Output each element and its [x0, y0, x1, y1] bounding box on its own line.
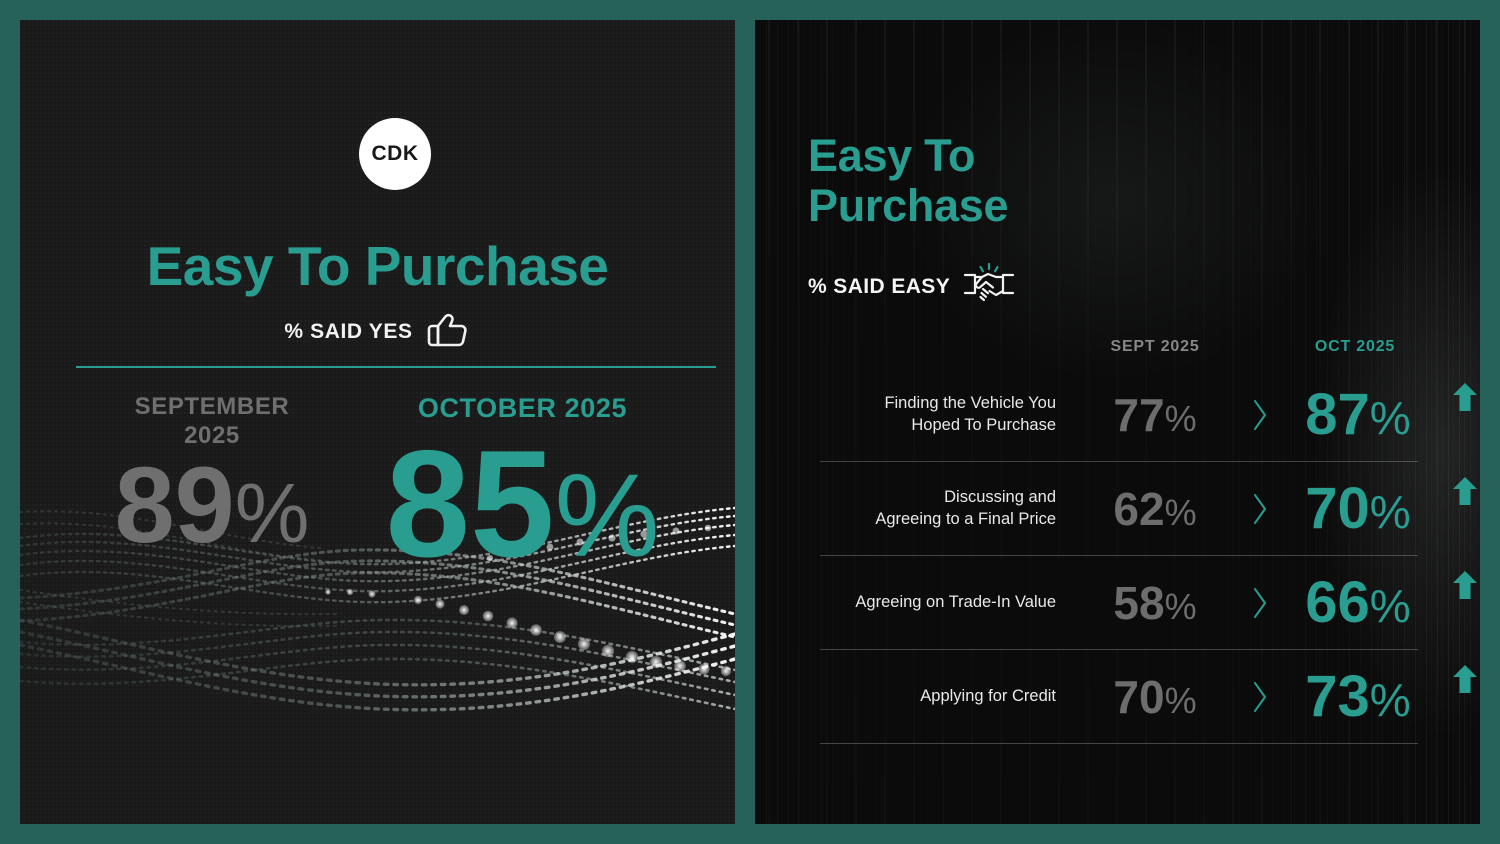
thumbs-up-icon — [425, 308, 471, 356]
row-previous-number: 58 — [1113, 577, 1164, 629]
right-title-line2: Purchase — [808, 180, 1008, 231]
row-current-percent-sign: % — [1370, 486, 1411, 538]
row-label-line2: Hoped To Purchase — [911, 416, 1056, 434]
row-current-percent-sign: % — [1370, 392, 1411, 444]
left-previous-percent-sign: % — [235, 466, 310, 560]
cdk-logo: CDK — [359, 118, 431, 190]
right-panel: CDK Easy To Purchase % SAID EASY — [755, 20, 1480, 824]
left-subtitle: % SAID YES — [20, 308, 735, 356]
row-label: Discussing and Agreeing to a Final Price — [820, 487, 1056, 531]
table-row: Agreeing on Trade-In Value 58% 66% — [820, 556, 1418, 650]
row-current-value: 70% — [1270, 480, 1446, 538]
row-label-line1: Agreeing on Trade-In Value — [855, 593, 1056, 611]
row-current-percent-sign: % — [1370, 674, 1411, 726]
left-current-number: 85 — [386, 419, 555, 589]
row-current-value: 66% — [1270, 574, 1446, 632]
row-label: Agreeing on Trade-In Value — [820, 592, 1056, 614]
left-current-value: 85% — [348, 435, 697, 575]
row-label-line1: Applying for Credit — [920, 687, 1056, 705]
table-column-headers: SEPT 2025 OCT 2025 — [820, 338, 1418, 362]
row-label: Applying for Credit — [820, 686, 1056, 708]
row-current-percent-sign: % — [1370, 580, 1411, 632]
trend-up-arrow-icon — [1450, 476, 1480, 506]
row-current-number: 66 — [1305, 570, 1370, 635]
row-current-number: 70 — [1305, 476, 1370, 541]
table-row: Finding the Vehicle You Hoped To Purchas… — [820, 368, 1418, 462]
row-previous-number: 70 — [1113, 671, 1164, 723]
row-previous-value: 77% — [1070, 392, 1240, 438]
left-panel: CDK Easy To Purchase % SAID YES SEPTEMBE… — [20, 20, 735, 824]
row-previous-value: 62% — [1070, 486, 1240, 532]
row-previous-percent-sign: % — [1165, 492, 1197, 533]
row-previous-number: 77 — [1113, 389, 1164, 441]
row-label-line1: Discussing and — [944, 488, 1056, 506]
left-stats: SEPTEMBER 2025 89% OCTOBER 2025 85% — [76, 392, 697, 575]
column-header-previous: SEPT 2025 — [1070, 338, 1240, 356]
row-current-value: 73% — [1270, 668, 1446, 726]
right-subtitle: % SAID EASY — [808, 260, 1016, 314]
column-header-current: OCT 2025 — [1270, 338, 1440, 356]
left-previous-label-line1: SEPTEMBER — [135, 393, 290, 420]
cdk-logo-text: CDK — [372, 142, 419, 166]
row-previous-number: 62 — [1113, 483, 1164, 535]
trend-up-arrow-icon — [1450, 570, 1480, 600]
infographic-stage: CDK Easy To Purchase % SAID YES SEPTEMBE… — [0, 0, 1500, 844]
left-previous-label: SEPTEMBER 2025 — [76, 392, 348, 451]
left-previous-value: 89% — [76, 455, 348, 554]
trend-up-arrow-icon — [1450, 382, 1480, 412]
right-title-line1: Easy To — [808, 130, 975, 181]
stats-table: Finding the Vehicle You Hoped To Purchas… — [820, 368, 1418, 744]
left-previous-number: 89 — [115, 444, 235, 565]
row-current-number: 73 — [1305, 664, 1370, 729]
row-previous-value: 70% — [1070, 674, 1240, 720]
trend-up-arrow-icon — [1450, 664, 1480, 694]
table-row: Discussing and Agreeing to a Final Price… — [820, 462, 1418, 556]
handshake-icon — [962, 260, 1016, 314]
right-subtitle-text: % SAID EASY — [808, 275, 950, 299]
left-stat-previous: SEPTEMBER 2025 89% — [76, 392, 348, 554]
left-subtitle-text: % SAID YES — [284, 320, 412, 344]
left-stat-current: OCTOBER 2025 85% — [348, 392, 697, 575]
table-row: Applying for Credit 70% 73% — [820, 650, 1418, 744]
row-previous-percent-sign: % — [1165, 398, 1197, 439]
row-previous-percent-sign: % — [1165, 680, 1197, 721]
left-current-percent-sign: % — [555, 450, 660, 582]
page-title: Easy To Purchase — [20, 238, 735, 296]
row-previous-percent-sign: % — [1165, 586, 1197, 627]
row-label: Finding the Vehicle You Hoped To Purchas… — [820, 393, 1056, 437]
row-previous-value: 58% — [1070, 580, 1240, 626]
left-divider — [76, 366, 716, 368]
row-label-line1: Finding the Vehicle You — [884, 394, 1056, 412]
row-current-number: 87 — [1305, 382, 1370, 447]
right-panel-title: Easy To Purchase — [808, 131, 1008, 232]
row-label-line2: Agreeing to a Final Price — [875, 510, 1056, 528]
row-current-value: 87% — [1270, 386, 1446, 444]
